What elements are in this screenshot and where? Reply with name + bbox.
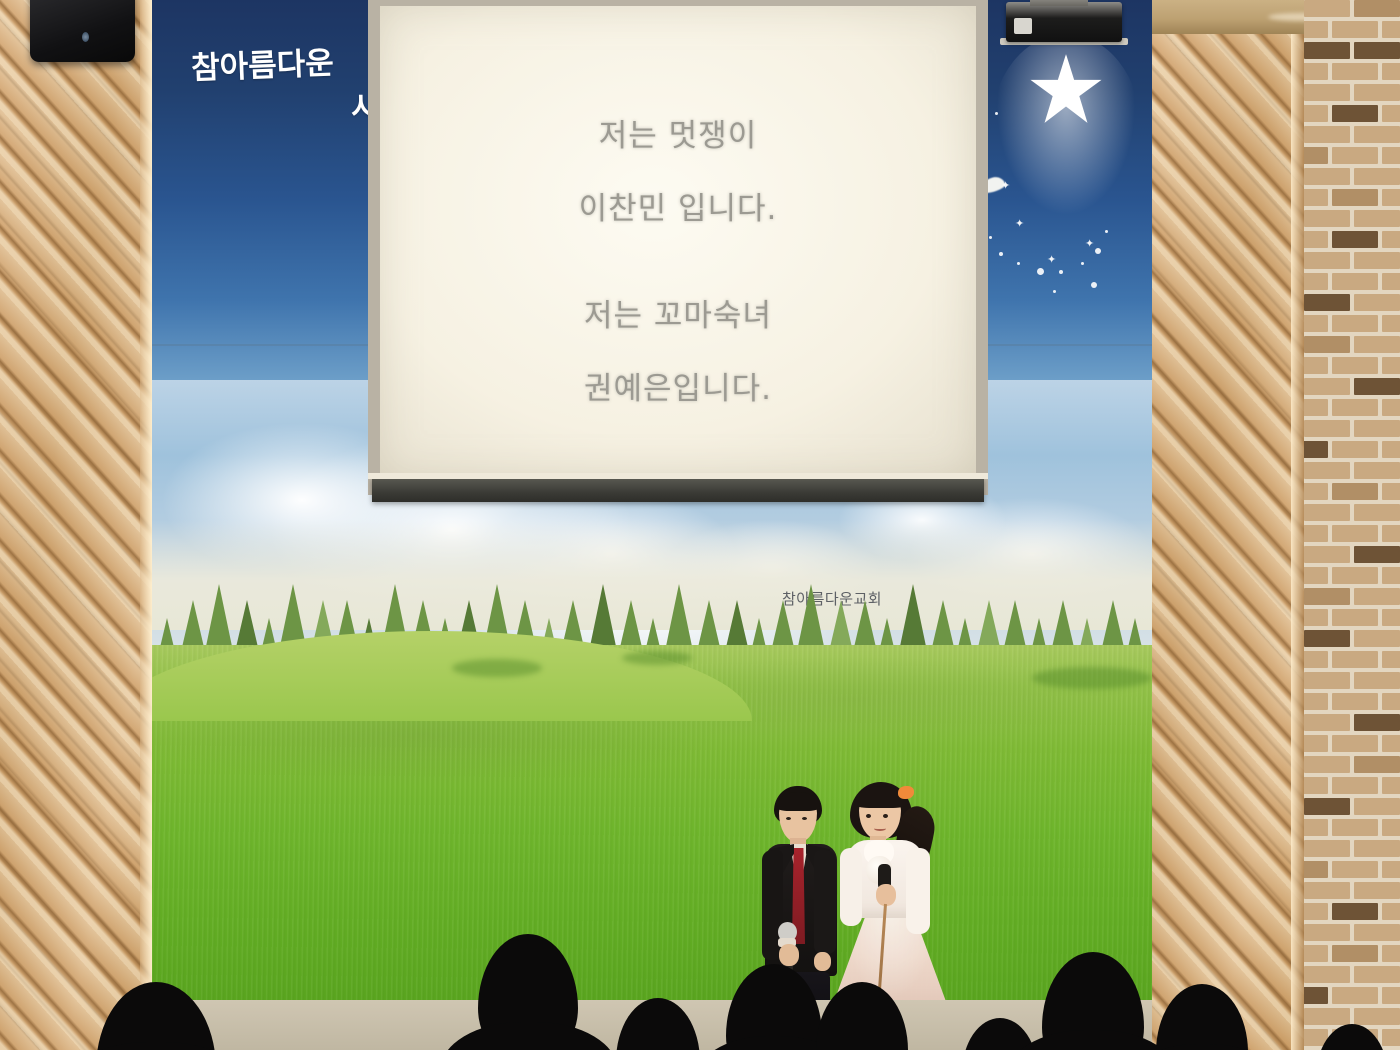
brick [1354, 756, 1400, 773]
sparkle-x: ✦ [1015, 218, 1024, 229]
brick [1304, 840, 1350, 857]
backdrop-grass-field [152, 645, 1152, 1050]
brick [1382, 63, 1400, 80]
brick [1354, 420, 1400, 437]
girl-hair-bow [898, 786, 914, 799]
brick [1304, 441, 1328, 458]
sparkle [989, 236, 992, 239]
brick [1332, 357, 1378, 374]
brick [1354, 840, 1400, 857]
brick [1332, 231, 1378, 248]
brick [1332, 273, 1378, 290]
brick [1304, 462, 1350, 479]
brick [1304, 819, 1328, 836]
brick [1332, 609, 1378, 626]
brick [1382, 21, 1400, 38]
brick [1382, 483, 1400, 500]
brick [1304, 294, 1350, 311]
sparkle [1037, 268, 1044, 275]
brick [1304, 273, 1328, 290]
brick [1382, 525, 1400, 542]
brick [1304, 756, 1350, 773]
brick [1304, 924, 1350, 941]
brick [1354, 84, 1400, 101]
brick [1332, 567, 1378, 584]
sparkle [1095, 248, 1101, 254]
girl-smile [874, 826, 886, 831]
brick [1354, 924, 1400, 941]
brick [1382, 651, 1400, 668]
sparkle [995, 112, 998, 115]
brick [1354, 126, 1400, 143]
brick [1382, 861, 1400, 878]
brick [1332, 525, 1378, 542]
sparkle [999, 252, 1003, 256]
brick [1332, 21, 1378, 38]
brick [1332, 651, 1378, 668]
field-shadow-patch [622, 651, 692, 665]
boy-hand-holding-mic [779, 944, 799, 966]
brick [1304, 315, 1328, 332]
brick [1354, 0, 1400, 17]
brick [1304, 735, 1328, 752]
brick [1382, 399, 1400, 416]
brick [1304, 378, 1350, 395]
brick [1304, 546, 1350, 563]
right-wood-wall [1152, 0, 1304, 1050]
brick [1304, 630, 1350, 647]
brick [1382, 777, 1400, 794]
field-hill [152, 631, 752, 721]
brick [1382, 357, 1400, 374]
girl-arm-right [906, 848, 930, 934]
brick [1382, 1029, 1400, 1046]
brick [1304, 567, 1328, 584]
screen-weight-bar [372, 478, 984, 502]
brick [1354, 798, 1400, 815]
brick [1354, 546, 1400, 563]
brick [1304, 903, 1328, 920]
brick [1332, 819, 1378, 836]
brick [1382, 231, 1400, 248]
sparkle [1091, 282, 1097, 288]
brick [1354, 588, 1400, 605]
brick [1354, 294, 1400, 311]
brick [1332, 777, 1378, 794]
girl-arm-left [840, 848, 862, 926]
sparkle [1053, 290, 1056, 293]
brick [1332, 189, 1378, 206]
brick [1332, 945, 1378, 962]
boy-hand-right [814, 952, 831, 971]
sparkle [1017, 262, 1020, 265]
brick [1304, 714, 1350, 731]
brick [1354, 1008, 1400, 1025]
brick [1332, 147, 1378, 164]
brick [1304, 0, 1350, 17]
brick [1304, 861, 1328, 878]
brick [1382, 189, 1400, 206]
brick [1304, 357, 1328, 374]
brick [1382, 987, 1400, 1004]
girl-eye-left [866, 814, 871, 818]
brick [1354, 210, 1400, 227]
sparkle-x: ✦ [1001, 180, 1010, 191]
brick [1382, 273, 1400, 290]
brick [1304, 168, 1350, 185]
brick [1382, 315, 1400, 332]
brick [1332, 987, 1378, 1004]
slide-line-1: 저는 멋쟁이 [599, 110, 757, 155]
brick [1304, 63, 1328, 80]
brick [1304, 42, 1350, 59]
brick [1304, 651, 1328, 668]
brick [1354, 252, 1400, 269]
brick [1304, 525, 1328, 542]
brick [1332, 315, 1378, 332]
banner-title-line1: 참아름다운 [191, 45, 335, 86]
brick [1304, 777, 1328, 794]
brick [1304, 126, 1350, 143]
brick [1304, 399, 1328, 416]
sparkle-x: ✦ [1047, 254, 1056, 265]
brick [1304, 588, 1350, 605]
sparkle [1081, 262, 1084, 265]
brick [1332, 735, 1378, 752]
sparkle [1059, 270, 1063, 274]
brick [1304, 504, 1350, 521]
brick [1304, 483, 1328, 500]
stage-scene: 참아름다운 사랑공 ✦ [0, 0, 1400, 1050]
brick [1354, 504, 1400, 521]
brick [1304, 420, 1350, 437]
field-shadow-patch [452, 659, 542, 677]
brick [1304, 987, 1328, 1004]
brick [1304, 798, 1350, 815]
field-shadow-patch [1032, 667, 1152, 689]
brick [1354, 336, 1400, 353]
ceiling-speaker [30, 0, 135, 62]
slide-line-2: 이찬민 입니다. [579, 183, 778, 228]
brick [1304, 84, 1350, 101]
brick [1354, 42, 1400, 59]
brick [1332, 693, 1378, 710]
brick [1304, 147, 1328, 164]
sparkle [1105, 230, 1108, 233]
brick [1382, 441, 1400, 458]
brick [1382, 147, 1400, 164]
sparkle-x: ✦ [1085, 238, 1094, 249]
girl-eye-right [883, 814, 888, 818]
brick [1304, 945, 1328, 962]
boy-eye-right [802, 817, 807, 820]
girl-hand-holding-mic [876, 884, 896, 906]
projected-slide-text: 저는 멋쟁이 이찬민 입니다. 저는 꼬마숙녀 권예은입니다. [380, 6, 976, 478]
brick [1304, 21, 1328, 38]
brick [1354, 714, 1400, 731]
brick [1354, 672, 1400, 689]
brick [1332, 63, 1378, 80]
brick [1354, 630, 1400, 647]
brick [1354, 882, 1400, 899]
brick [1304, 693, 1328, 710]
brick [1382, 735, 1400, 752]
slide-line-4: 권예은입니다. [584, 363, 772, 408]
left-wood-wall [0, 0, 152, 1050]
brick [1332, 483, 1378, 500]
brick [1304, 672, 1350, 689]
brick [1382, 945, 1400, 962]
brick [1304, 1008, 1350, 1025]
ceiling-projector [1006, 2, 1122, 42]
brick [1354, 462, 1400, 479]
brick [1382, 693, 1400, 710]
brick [1382, 105, 1400, 122]
brick [1332, 861, 1378, 878]
brick [1382, 609, 1400, 626]
speaker-led [82, 32, 89, 42]
star-cluster: ✦ ✦ ✦ ✦ [1007, 40, 1152, 330]
brick [1332, 105, 1378, 122]
boy-eye-left [786, 817, 791, 820]
brick [1304, 336, 1350, 353]
brick [1332, 399, 1378, 416]
brick [1304, 966, 1350, 983]
brick [1354, 966, 1400, 983]
brick [1354, 168, 1400, 185]
brick [1332, 441, 1378, 458]
brick [1304, 210, 1350, 227]
brick [1304, 105, 1328, 122]
slide-line-3: 저는 꼬마숙녀 [584, 290, 772, 335]
brick [1382, 819, 1400, 836]
brick [1382, 903, 1400, 920]
brick [1304, 252, 1350, 269]
brick [1304, 882, 1350, 899]
brick [1304, 231, 1328, 248]
brick [1332, 903, 1378, 920]
brick [1304, 609, 1328, 626]
brick [1354, 378, 1400, 395]
brick [1382, 567, 1400, 584]
brick [1304, 189, 1328, 206]
brick-wall [1304, 0, 1400, 1050]
